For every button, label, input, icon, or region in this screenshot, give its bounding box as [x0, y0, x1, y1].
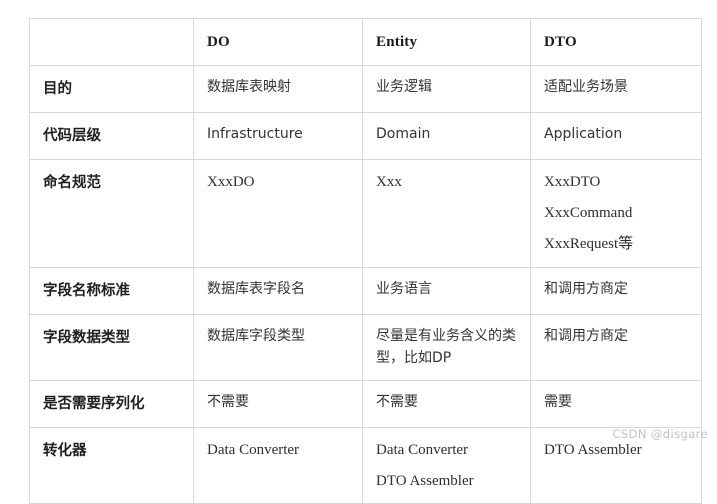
- cell-text: DTO Assembler: [544, 438, 689, 462]
- comparison-table-container: DO Entity DTO 目的数据库表映射业务逻辑适配业务场景代码层级Infr…: [29, 18, 701, 434]
- row-label: 代码层级: [43, 128, 101, 144]
- row-label: 字段名称标准: [43, 283, 130, 299]
- table-cell: XxxDTOXxxCommandXxxRequest等: [531, 159, 702, 267]
- row-label: 字段数据类型: [43, 330, 130, 346]
- table-row: 命名规范XxxDOXxxXxxDTOXxxCommandXxxRequest等: [30, 159, 702, 267]
- csdn-watermark: CSDN @disgare: [612, 427, 708, 441]
- row-label-cell: 命名规范: [30, 159, 194, 267]
- table-cell: Application: [531, 112, 702, 159]
- row-label-cell: 目的: [30, 65, 194, 112]
- table-cell: 需要: [531, 380, 702, 427]
- table-row: 字段数据类型数据库字段类型尽量是有业务含义的类型，比如DP和调用方商定: [30, 314, 702, 380]
- cell-text: 和调用方商定: [544, 325, 689, 348]
- table-cell: 不需要: [194, 380, 363, 427]
- cell-text: 适配业务场景: [544, 76, 689, 99]
- cell-text: 不需要: [376, 391, 518, 414]
- row-label-cell: 字段名称标准: [30, 267, 194, 314]
- row-label-cell: 是否需要序列化: [30, 380, 194, 427]
- row-label: 命名规范: [43, 175, 101, 191]
- cell-text: 数据库字段类型: [207, 325, 350, 348]
- cell-text: XxxCommand: [544, 201, 689, 225]
- row-label: 目的: [43, 81, 72, 97]
- table-cell: 数据库字段类型: [194, 314, 363, 380]
- header-label-do: DO: [207, 34, 230, 50]
- header-label-entity: Entity: [376, 34, 417, 50]
- cell-text: XxxDO: [207, 170, 350, 194]
- table-body: 目的数据库表映射业务逻辑适配业务场景代码层级InfrastructureDoma…: [30, 65, 702, 503]
- cell-text: Application: [544, 123, 689, 146]
- cell-text: 不需要: [207, 391, 350, 414]
- row-label-cell: 代码层级: [30, 112, 194, 159]
- table-cell: Xxx: [363, 159, 531, 267]
- cell-text: 业务逻辑: [376, 76, 518, 99]
- table-row: 代码层级InfrastructureDomainApplication: [30, 112, 702, 159]
- table-cell: Data ConverterDTO Assembler: [363, 427, 531, 504]
- table-cell: XxxDO: [194, 159, 363, 267]
- table-header-row: DO Entity DTO: [30, 19, 702, 66]
- table-cell: 适配业务场景: [531, 65, 702, 112]
- cell-text: 数据库表字段名: [207, 278, 350, 301]
- table-row: 目的数据库表映射业务逻辑适配业务场景: [30, 65, 702, 112]
- header-cell-entity: Entity: [363, 19, 531, 66]
- row-label-cell: 字段数据类型: [30, 314, 194, 380]
- do-entity-dto-comparison-table: DO Entity DTO 目的数据库表映射业务逻辑适配业务场景代码层级Infr…: [29, 18, 702, 504]
- table-cell: 尽量是有业务含义的类型，比如DP: [363, 314, 531, 380]
- table-cell: 业务语言: [363, 267, 531, 314]
- cell-text: 数据库表映射: [207, 76, 350, 99]
- header-cell-rowlabel: [30, 19, 194, 66]
- table-cell: 数据库表字段名: [194, 267, 363, 314]
- cell-text: Data Converter: [207, 438, 350, 462]
- table-cell: Data Converter: [194, 427, 363, 504]
- cell-text: Domain: [376, 123, 518, 146]
- cell-text: 尽量是有业务含义的类型，比如DP: [376, 325, 518, 370]
- table-cell: 和调用方商定: [531, 314, 702, 380]
- cell-text: 业务语言: [376, 278, 518, 301]
- table-row: 转化器Data ConverterData ConverterDTO Assem…: [30, 427, 702, 504]
- header-cell-do: DO: [194, 19, 363, 66]
- cell-text: Data Converter: [376, 438, 518, 462]
- table-row: 字段名称标准数据库表字段名业务语言和调用方商定: [30, 267, 702, 314]
- table-cell: 和调用方商定: [531, 267, 702, 314]
- row-label: 是否需要序列化: [43, 396, 145, 412]
- cell-text: 需要: [544, 391, 689, 414]
- cell-text: XxxDTO: [544, 170, 689, 194]
- table-cell: 不需要: [363, 380, 531, 427]
- table-cell: 数据库表映射: [194, 65, 363, 112]
- table-cell: 业务逻辑: [363, 65, 531, 112]
- header-label-dto: DTO: [544, 34, 577, 50]
- table-row: 是否需要序列化不需要不需要需要: [30, 380, 702, 427]
- cell-text: XxxRequest等: [544, 232, 689, 256]
- cell-text: DTO Assembler: [376, 469, 518, 493]
- row-label-cell: 转化器: [30, 427, 194, 504]
- cell-text: Infrastructure: [207, 123, 350, 146]
- header-cell-dto: DTO: [531, 19, 702, 66]
- table-cell: Infrastructure: [194, 112, 363, 159]
- cell-text: Xxx: [376, 170, 518, 194]
- row-label: 转化器: [43, 443, 87, 459]
- cell-text: 和调用方商定: [544, 278, 689, 301]
- table-cell: Domain: [363, 112, 531, 159]
